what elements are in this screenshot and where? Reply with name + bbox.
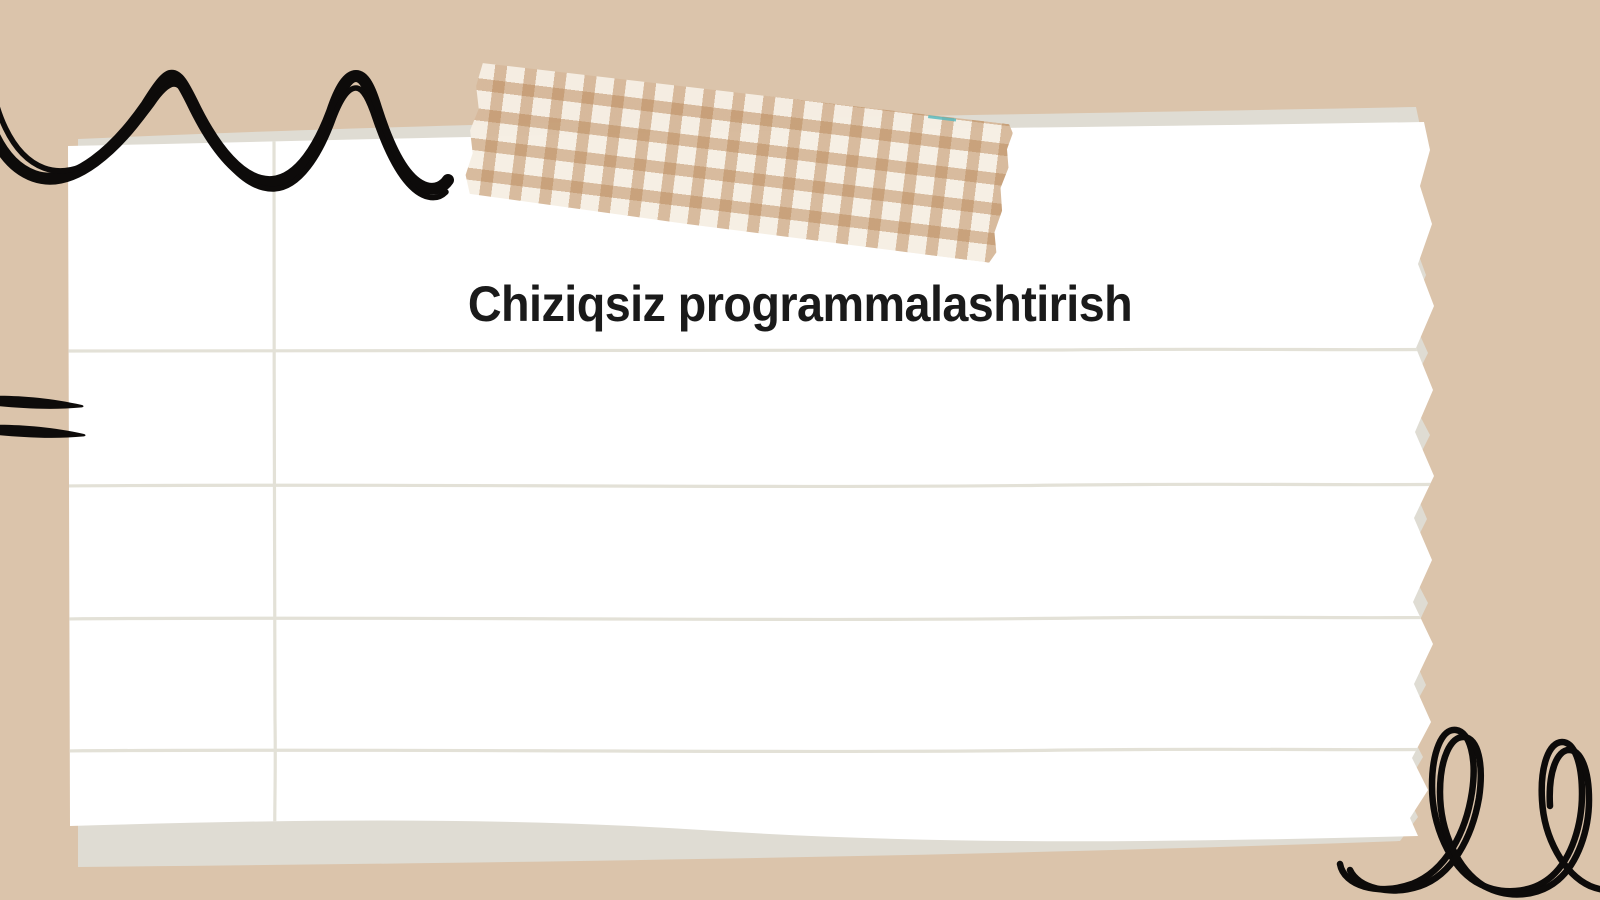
rule-line-1 bbox=[62, 349, 1462, 351]
margin-line bbox=[274, 128, 275, 842]
page-title: Chiziqsiz programmalashtirish bbox=[52, 272, 1548, 336]
slide-canvas: Chiziqsiz programmalashtirish bbox=[0, 0, 1600, 900]
